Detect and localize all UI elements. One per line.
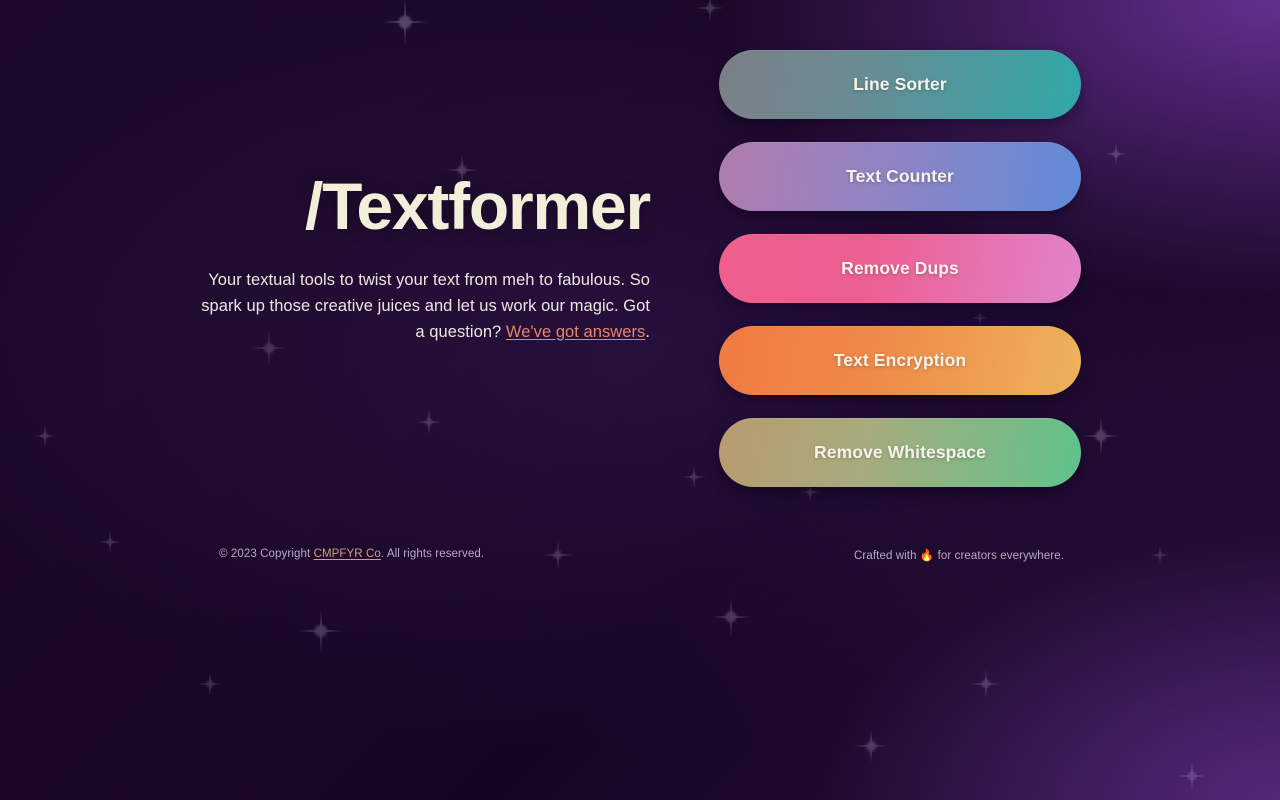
page-title: /Textformer bbox=[0, 172, 660, 241]
footer-credit: Crafted with 🔥 for creators everywhere. bbox=[854, 548, 1064, 562]
footer: © 2023 Copyright CMPFYR Co. All rights r… bbox=[0, 548, 1280, 568]
page-root: /Textformer Your textual tools to twist … bbox=[0, 0, 1280, 800]
page-content: /Textformer Your textual tools to twist … bbox=[0, 0, 1280, 800]
tool-button-remove-whitespace[interactable]: Remove Whitespace bbox=[719, 418, 1081, 487]
tool-button-label: Remove Whitespace bbox=[814, 442, 986, 463]
tool-button-text-encryption[interactable]: Text Encryption bbox=[719, 326, 1081, 395]
crafted-prefix: Crafted with bbox=[854, 550, 920, 562]
hero-description: Your textual tools to twist your text fr… bbox=[0, 267, 660, 345]
tool-button-text-counter[interactable]: Text Counter bbox=[719, 142, 1081, 211]
footer-copyright: © 2023 Copyright CMPFYR Co. All rights r… bbox=[219, 548, 484, 560]
tool-button-label: Text Encryption bbox=[834, 350, 966, 371]
copyright-prefix: © 2023 Copyright bbox=[219, 548, 314, 560]
tool-button-remove-dups[interactable]: Remove Dups bbox=[719, 234, 1081, 303]
tool-button-line-sorter[interactable]: Line Sorter bbox=[719, 50, 1081, 119]
company-link[interactable]: CMPFYR Co bbox=[314, 548, 381, 560]
fire-icon: 🔥 bbox=[920, 550, 934, 562]
crafted-suffix: for creators everywhere. bbox=[934, 550, 1064, 562]
hero-section: /Textformer Your textual tools to twist … bbox=[0, 0, 660, 345]
hero-description-text-after: . bbox=[645, 323, 650, 341]
tool-button-label: Remove Dups bbox=[841, 258, 959, 279]
tool-button-label: Text Counter bbox=[846, 166, 954, 187]
faq-link[interactable]: We've got answers bbox=[506, 323, 645, 341]
copyright-suffix: . All rights reserved. bbox=[381, 548, 484, 560]
tool-button-list: Line SorterText CounterRemove DupsText E… bbox=[719, 50, 1081, 487]
tool-button-label: Line Sorter bbox=[853, 74, 946, 95]
